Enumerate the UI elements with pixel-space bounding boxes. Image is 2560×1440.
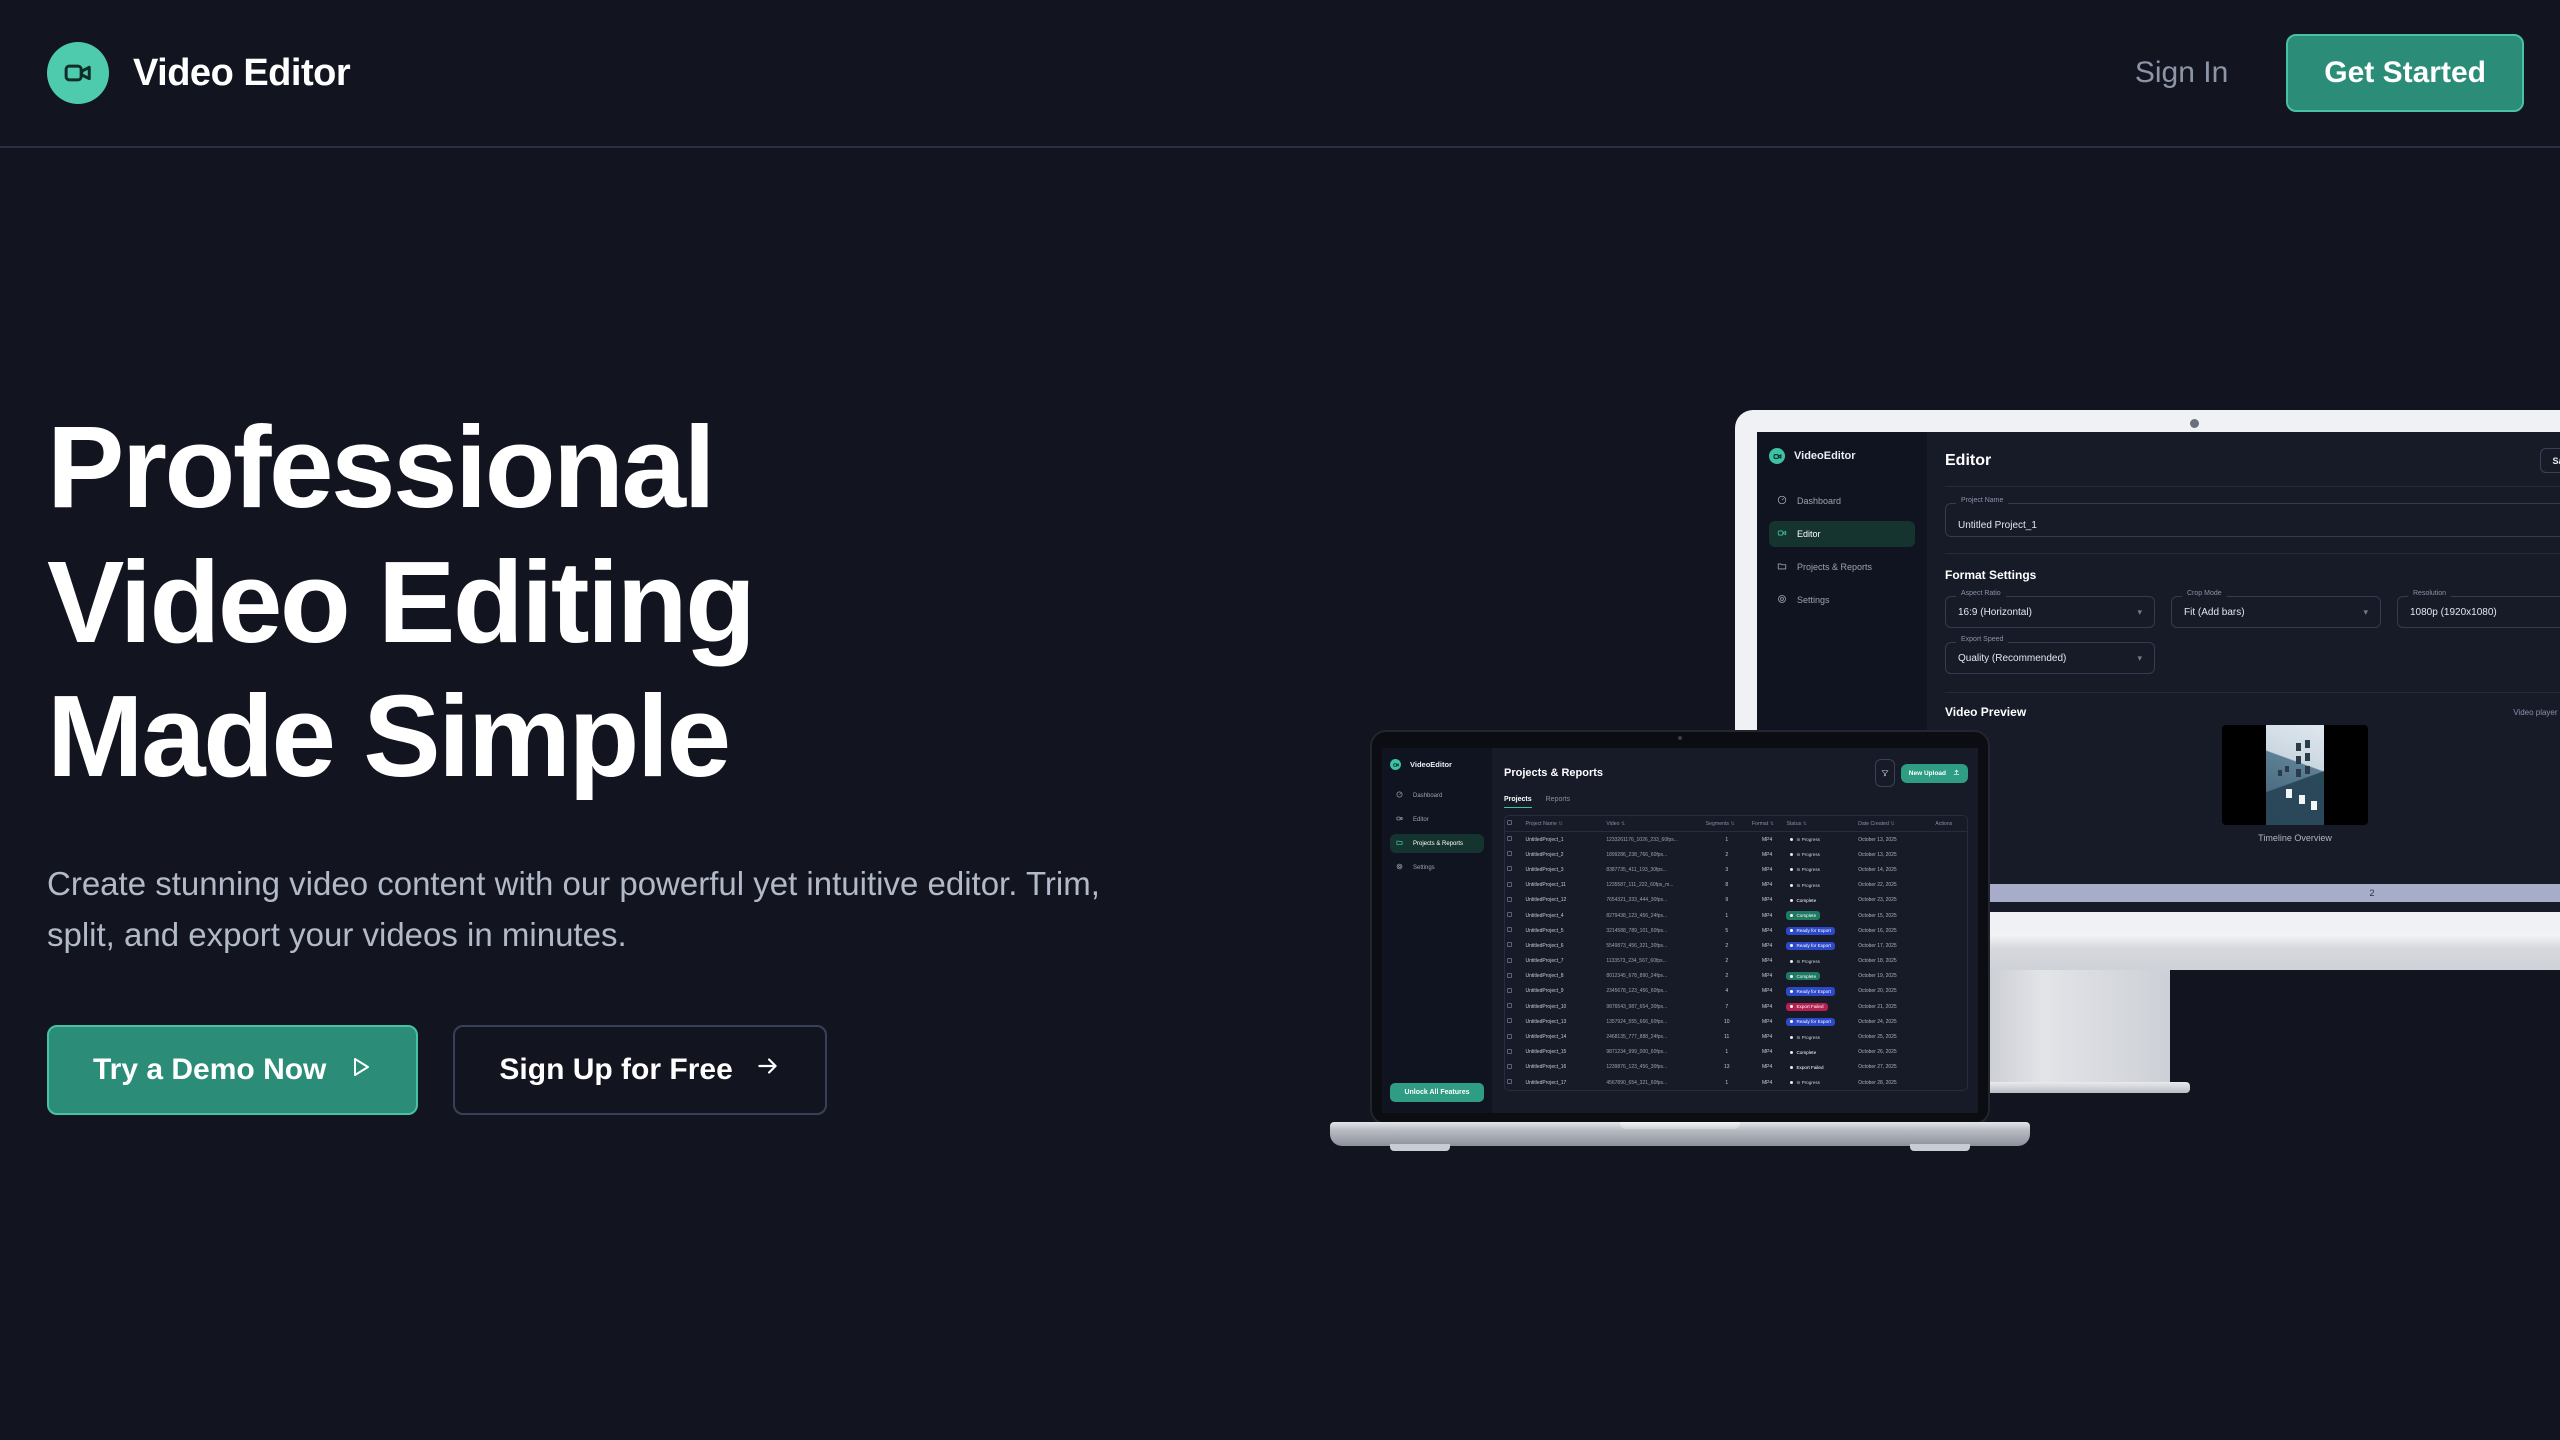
- sidebar-item-dashboard[interactable]: Dashboard: [1769, 488, 1915, 514]
- edit-icon: [1930, 987, 1937, 994]
- cell-actions[interactable]: [1921, 938, 1967, 953]
- cell-status: In Progress: [1784, 1029, 1856, 1044]
- sort-icon: ⇅: [1770, 821, 1774, 827]
- app-brand-name: VideoEditor: [1410, 760, 1452, 769]
- cell-video: 9871234_999_000_60fps...: [1604, 1045, 1703, 1060]
- row-checkbox[interactable]: [1505, 1014, 1523, 1029]
- row-checkbox[interactable]: [1505, 908, 1523, 923]
- timeline-overview-label: Timeline Overview: [2258, 833, 2332, 843]
- crop-mode-value: Fit (Add bars): [2184, 607, 2245, 618]
- column-video[interactable]: Video ⇅: [1604, 816, 1703, 832]
- projects-main: Projects & Reports New Upload: [1492, 748, 1978, 1113]
- sidebar-item-projects-reports[interactable]: Projects & Reports: [1769, 554, 1915, 580]
- cell-project-name: UntitledProject_10: [1523, 999, 1604, 1014]
- export-icon: [1940, 1078, 1947, 1085]
- export-icon: [1940, 1002, 1947, 1009]
- cell-video: 1133573_234_567_60fps...: [1604, 954, 1703, 969]
- cell-date-created: October 25, 2025: [1856, 1029, 1921, 1044]
- edit-icon: [1930, 926, 1937, 933]
- export-icon: [1940, 1063, 1947, 1070]
- status-label: In Progress: [1796, 959, 1820, 964]
- hero-title-line-1: Professional: [47, 400, 1147, 535]
- cell-project-name: UntitledProject_16: [1523, 1060, 1604, 1075]
- cell-status: Export Failed: [1784, 1060, 1856, 1075]
- edit-icon: [1930, 835, 1937, 842]
- delete-icon: [1950, 1078, 1957, 1085]
- cell-actions[interactable]: [1921, 862, 1967, 877]
- save-button[interactable]: Save: [2540, 448, 2560, 473]
- cell-video: 8387735_411_193_30fps...: [1604, 862, 1703, 877]
- webcam-dot-icon: [2190, 419, 2199, 428]
- folder-icon: [1777, 561, 1787, 573]
- status-dot: [1790, 884, 1793, 887]
- status-label: Ready for Export: [1796, 928, 1830, 933]
- cell-segments: 13: [1704, 1060, 1750, 1075]
- app-brand: VideoEditor: [1390, 759, 1484, 770]
- row-checkbox[interactable]: [1505, 878, 1523, 893]
- page-title: Professional Video Editing Made Simple: [47, 400, 1147, 804]
- status-label: In Progress: [1796, 1035, 1820, 1040]
- status-label: Ready for Export: [1796, 1019, 1830, 1024]
- cell-status: Ready for Export: [1784, 1014, 1856, 1029]
- cell-status: Complete: [1784, 908, 1856, 923]
- cell-format: MP4: [1750, 999, 1785, 1014]
- crop-mode-legend: Crop Mode: [2182, 590, 2227, 597]
- projects-table: Project Name ⇅ Video ⇅ Segments ⇅ Format…: [1504, 815, 1968, 1091]
- cell-actions[interactable]: [1921, 969, 1967, 984]
- cell-date-created: October 14, 2025: [1856, 862, 1921, 877]
- sidebar-label: Editor: [1413, 817, 1429, 823]
- edit-icon: [1930, 881, 1937, 888]
- cell-date-created: October 23, 2025: [1856, 893, 1921, 908]
- cell-project-name: UntitledProject_11: [1523, 878, 1604, 893]
- chevron-down-icon: ▾: [2137, 607, 2142, 618]
- project-name-value: Untitled Project_1: [1958, 520, 2037, 531]
- hero-section: Professional Video Editing Made Simple C…: [47, 400, 1147, 1115]
- export-icon: [1940, 911, 1947, 918]
- status-label: Complete: [1796, 913, 1816, 918]
- cell-date-created: October 17, 2025: [1856, 938, 1921, 953]
- edit-icon: [1930, 1017, 1937, 1024]
- cell-format: MP4: [1750, 1075, 1785, 1090]
- delete-icon: [1950, 865, 1957, 872]
- row-checkbox[interactable]: [1505, 969, 1523, 984]
- export-icon: [1940, 1048, 1947, 1055]
- delete-icon: [1950, 972, 1957, 979]
- cell-project-name: UntitledProject_14: [1523, 1029, 1604, 1044]
- cell-status: In Progress: [1784, 847, 1856, 862]
- product-mockup: VideoEditor Dashboard Editor: [1330, 380, 2560, 1200]
- status-badge: In Progress: [1786, 957, 1824, 965]
- cell-project-name: UntitledProject_8: [1523, 969, 1604, 984]
- cell-format: MP4: [1750, 938, 1785, 953]
- cell-actions[interactable]: [1921, 1029, 1967, 1044]
- cell-date-created: October 13, 2025: [1856, 832, 1921, 848]
- cell-format: MP4: [1750, 878, 1785, 893]
- edit-icon: [1930, 1002, 1937, 1009]
- cell-segments: 7: [1704, 999, 1750, 1014]
- cell-format: MP4: [1750, 1045, 1785, 1060]
- hero-subtitle: Create stunning video content with our p…: [47, 858, 1107, 961]
- row-checkbox[interactable]: [1505, 954, 1523, 969]
- video-preview-area: Timeline Overview: [1945, 725, 2560, 843]
- export-icon: [1940, 850, 1947, 857]
- site-header: Video Editor Sign In Get Started: [0, 0, 2560, 148]
- tab-projects[interactable]: Projects: [1504, 796, 1532, 808]
- brand-logo[interactable]: Video Editor: [47, 42, 350, 104]
- editor-page-title: Editor: [1945, 452, 1991, 470]
- row-checkbox[interactable]: [1505, 923, 1523, 938]
- table-row[interactable]: UntitledProject_92345678_123_456_60fps..…: [1505, 984, 1967, 999]
- status-dot: [1790, 960, 1793, 963]
- table-row[interactable]: UntitledProject_127654321_333_444_30fps.…: [1505, 893, 1967, 908]
- format-field-row-1: Aspect Ratio 16:9 (Horizontal) ▾ Crop Mo…: [1945, 596, 2560, 628]
- cell-video: 3214588_789_101_60fps...: [1604, 923, 1703, 938]
- status-label: Export Failed: [1796, 1004, 1823, 1009]
- gear-icon: [1396, 863, 1403, 872]
- laptop-screen: VideoEditor Dashboard Editor Projects & …: [1382, 748, 1978, 1113]
- sidebar-item-projects-reports[interactable]: Projects & Reports: [1390, 834, 1484, 853]
- row-checkbox[interactable]: [1505, 1075, 1523, 1090]
- status-badge: Ready for Export: [1786, 987, 1834, 995]
- column-project-name[interactable]: Project Name ⇅: [1523, 816, 1604, 832]
- cell-actions[interactable]: [1921, 908, 1967, 923]
- cell-segments: 9: [1704, 893, 1750, 908]
- sort-icon: ⇅: [1730, 821, 1734, 827]
- export-icon: [1940, 972, 1947, 979]
- cell-project-name: UntitledProject_4: [1523, 908, 1604, 923]
- sidebar-label: Settings: [1413, 865, 1435, 871]
- export-icon: [1940, 896, 1947, 903]
- cell-actions[interactable]: [1921, 1045, 1967, 1060]
- cell-actions[interactable]: [1921, 999, 1967, 1014]
- row-checkbox[interactable]: [1505, 847, 1523, 862]
- edit-icon: [1930, 1078, 1937, 1085]
- sidebar-item-editor[interactable]: Editor: [1769, 521, 1915, 547]
- video-camera-icon: [1396, 815, 1403, 824]
- video-camera-icon: [1390, 759, 1401, 770]
- cell-date-created: October 13, 2025: [1856, 847, 1921, 862]
- projects-page-title: Projects & Reports: [1504, 767, 1603, 779]
- table-row[interactable]: UntitledProject_71133573_234_567_60fps..…: [1505, 954, 1967, 969]
- video-preview-frame[interactable]: [2222, 725, 2368, 825]
- select-all-checkbox[interactable]: [1505, 816, 1523, 832]
- table-row[interactable]: UntitledProject_48279438_123_456_24fps..…: [1505, 908, 1967, 923]
- sort-icon: ⇅: [1558, 821, 1562, 827]
- export-icon: [1940, 987, 1947, 994]
- chevron-down-icon: ▾: [2137, 653, 2142, 664]
- status-dot: [1790, 1051, 1793, 1054]
- resolution-legend: Resolution: [2408, 590, 2451, 597]
- delete-icon: [1950, 896, 1957, 903]
- cell-video: 8012345_678_890_24fps...: [1604, 969, 1703, 984]
- cell-format: MP4: [1750, 923, 1785, 938]
- cell-video: 2345678_123_456_60fps...: [1604, 984, 1703, 999]
- new-upload-button[interactable]: New Upload: [1901, 764, 1968, 783]
- edit-icon: [1930, 1048, 1937, 1055]
- cell-segments: 8: [1704, 878, 1750, 893]
- table-row[interactable]: UntitledProject_131357924_555_666_60fps.…: [1505, 1014, 1967, 1029]
- table-row[interactable]: UntitledProject_21899286_238_766_60fps..…: [1505, 847, 1967, 862]
- row-checkbox[interactable]: [1505, 1045, 1523, 1060]
- table-row[interactable]: UntitledProject_174567890_654_321_60fps.…: [1505, 1075, 1967, 1090]
- sidebar-item-dashboard[interactable]: Dashboard: [1390, 786, 1484, 805]
- status-dot: [1790, 1020, 1793, 1023]
- cell-project-name: UntitledProject_7: [1523, 954, 1604, 969]
- cell-video: 1899286_238_766_60fps...: [1604, 847, 1703, 862]
- delete-icon: [1950, 926, 1957, 933]
- status-badge: In Progress: [1786, 836, 1824, 844]
- resolution-select[interactable]: Resolution 1080p (1920x1080) ▾: [2397, 596, 2560, 628]
- sign-up-free-button[interactable]: Sign Up for Free: [453, 1025, 826, 1115]
- cell-actions[interactable]: [1921, 1060, 1967, 1075]
- row-checkbox[interactable]: [1505, 862, 1523, 877]
- status-label: Export Failed: [1796, 1065, 1823, 1070]
- row-checkbox[interactable]: [1505, 1029, 1523, 1044]
- format-field-row-2: Export Speed Quality (Recommended) ▾: [1945, 642, 2560, 674]
- cell-project-name: UntitledProject_2: [1523, 847, 1604, 862]
- cell-actions[interactable]: [1921, 878, 1967, 893]
- cell-segments: 4: [1704, 984, 1750, 999]
- laptop-base-notch: [1620, 1122, 1740, 1129]
- delete-icon: [1950, 957, 1957, 964]
- cell-actions[interactable]: [1921, 1014, 1967, 1029]
- cell-status: In Progress: [1784, 832, 1856, 848]
- sign-in-link[interactable]: Sign In: [2135, 56, 2228, 90]
- cell-date-created: October 28, 2025: [1856, 1075, 1921, 1090]
- cell-segments: 10: [1704, 1014, 1750, 1029]
- cell-video: 2468135_777_888_24fps...: [1604, 1029, 1703, 1044]
- tab-reports[interactable]: Reports: [1546, 796, 1571, 808]
- status-dot: [1790, 868, 1793, 871]
- editor-topbar: Editor Save Export: [1945, 448, 2560, 473]
- sort-icon: ⇅: [1803, 821, 1807, 827]
- cell-status: Ready for Export: [1784, 984, 1856, 999]
- cell-project-name: UntitledProject_3: [1523, 862, 1604, 877]
- sign-up-free-label: Sign Up for Free: [499, 1053, 732, 1087]
- cell-actions[interactable]: [1921, 923, 1967, 938]
- row-checkbox[interactable]: [1505, 832, 1523, 848]
- cell-segments: 11: [1704, 1029, 1750, 1044]
- table-body: UntitledProject_11233261176_1026_233_60f…: [1505, 832, 1967, 1091]
- cell-actions[interactable]: [1921, 954, 1967, 969]
- table-row[interactable]: UntitledProject_161239876_123_456_30fps.…: [1505, 1060, 1967, 1075]
- projects-topbar: Projects & Reports New Upload: [1504, 759, 1968, 787]
- laptop-base: [1330, 1122, 2030, 1146]
- edit-icon: [1930, 1033, 1937, 1040]
- get-started-button[interactable]: Get Started: [2286, 34, 2524, 112]
- column-date-created[interactable]: Date Created ⇅: [1856, 816, 1921, 832]
- folder-icon: [1396, 839, 1403, 848]
- cell-actions[interactable]: [1921, 893, 1967, 908]
- cell-format: MP4: [1750, 1014, 1785, 1029]
- export-speed-select[interactable]: Export Speed Quality (Recommended) ▾: [1945, 642, 2155, 674]
- resolution-value: 1080p (1920x1080): [2410, 607, 2497, 618]
- header-actions: Sign In Get Started: [2135, 34, 2524, 112]
- cell-video: 1357924_555_666_60fps...: [1604, 1014, 1703, 1029]
- sort-icon: ⇅: [1621, 821, 1625, 827]
- column-status[interactable]: Status ⇅: [1784, 816, 1856, 832]
- status-dot: [1790, 838, 1793, 841]
- status-label: Complete: [1796, 898, 1816, 903]
- aspect-ratio-select[interactable]: Aspect Ratio 16:9 (Horizontal) ▾: [1945, 596, 2155, 628]
- cell-video: 9876543_987_654_30fps...: [1604, 999, 1703, 1014]
- laptop-lid: VideoEditor Dashboard Editor Projects & …: [1370, 730, 1990, 1125]
- projects-tabs: Projects Reports: [1504, 796, 1968, 808]
- cell-status: In Progress: [1784, 878, 1856, 893]
- status-dot: [1790, 914, 1793, 917]
- row-checkbox[interactable]: [1505, 1060, 1523, 1075]
- sidebar-label: Settings: [1797, 595, 1830, 605]
- cell-project-name: UntitledProject_9: [1523, 984, 1604, 999]
- aspect-ratio-value: 16:9 (Horizontal): [1958, 607, 2032, 618]
- project-name-legend: Project Name: [1956, 497, 2008, 504]
- video-camera-icon: [1769, 448, 1785, 464]
- cell-date-created: October 18, 2025: [1856, 954, 1921, 969]
- delete-icon: [1950, 911, 1957, 918]
- cell-actions[interactable]: [1921, 1075, 1967, 1090]
- delete-icon: [1950, 881, 1957, 888]
- cell-project-name: UntitledProject_1: [1523, 832, 1604, 848]
- cell-video: 1239876_123_456_30fps...: [1604, 1060, 1703, 1075]
- row-checkbox[interactable]: [1505, 999, 1523, 1014]
- sidebar-item-editor[interactable]: Editor: [1390, 810, 1484, 829]
- cell-segments: 2: [1704, 969, 1750, 984]
- sidebar-item-settings[interactable]: Settings: [1390, 858, 1484, 877]
- status-label: In Progress: [1796, 837, 1820, 842]
- cell-format: MP4: [1750, 984, 1785, 999]
- try-demo-label: Try a Demo Now: [93, 1053, 326, 1087]
- cell-actions[interactable]: [1921, 832, 1967, 848]
- cell-status: In Progress: [1784, 954, 1856, 969]
- status-badge: Export Failed: [1786, 1003, 1827, 1011]
- player-size-label: Video player size: [2513, 708, 2560, 717]
- cell-actions[interactable]: [1921, 847, 1967, 862]
- cell-project-name: UntitledProject_15: [1523, 1045, 1604, 1060]
- row-checkbox[interactable]: [1505, 984, 1523, 999]
- delete-icon: [1950, 1033, 1957, 1040]
- hero-title-line-3: Made Simple: [47, 669, 1147, 804]
- status-label: In Progress: [1796, 852, 1820, 857]
- column-actions: Actions: [1921, 816, 1967, 832]
- table-row[interactable]: UntitledProject_159871234_999_000_60fps.…: [1505, 1045, 1967, 1060]
- export-icon: [1940, 941, 1947, 948]
- row-checkbox[interactable]: [1505, 938, 1523, 953]
- gauge-icon: [1396, 791, 1403, 800]
- laptop-mockup: VideoEditor Dashboard Editor Projects & …: [1330, 730, 2030, 1160]
- edit-icon: [1930, 957, 1937, 964]
- status-dot: [1790, 899, 1793, 902]
- status-badge: In Progress: [1786, 866, 1824, 874]
- cell-segments: 3: [1704, 862, 1750, 877]
- table-row[interactable]: UntitledProject_88012345_678_890_24fps..…: [1505, 969, 1967, 984]
- status-label: Ready for Export: [1796, 943, 1830, 948]
- cell-format: MP4: [1750, 893, 1785, 908]
- preview-thumbnail: [2266, 725, 2324, 825]
- column-format[interactable]: Format ⇅: [1750, 816, 1785, 832]
- try-demo-button[interactable]: Try a Demo Now: [47, 1025, 418, 1115]
- sidebar-label: Editor: [1797, 529, 1821, 539]
- status-label: Complete: [1796, 1050, 1816, 1055]
- export-icon: [1940, 957, 1947, 964]
- webcam-dot-icon: [1678, 736, 1682, 740]
- status-label: In Progress: [1796, 883, 1820, 888]
- arrow-right-icon: [755, 1053, 781, 1087]
- delete-icon: [1950, 835, 1957, 842]
- row-checkbox[interactable]: [1505, 893, 1523, 908]
- project-name-field[interactable]: Project Name Untitled Project_1: [1945, 503, 2560, 537]
- hero-title-line-2: Video Editing: [47, 535, 1147, 670]
- status-badge: Ready for Export: [1786, 942, 1834, 950]
- cell-segments: 1: [1704, 1075, 1750, 1090]
- edit-icon: [1930, 1063, 1937, 1070]
- sidebar-item-settings[interactable]: Settings: [1769, 587, 1915, 613]
- status-dot: [1790, 929, 1793, 932]
- table-row[interactable]: UntitledProject_65549873_456_321_30fps..…: [1505, 938, 1967, 953]
- aspect-ratio-legend: Aspect Ratio: [1956, 590, 2006, 597]
- export-icon: [1940, 926, 1947, 933]
- status-label: Ready for Export: [1796, 989, 1830, 994]
- table-row[interactable]: UntitledProject_142468135_777_888_24fps.…: [1505, 1029, 1967, 1044]
- table-row[interactable]: UntitledProject_111235587_111_222_60fps_…: [1505, 878, 1967, 893]
- cell-project-name: UntitledProject_5: [1523, 923, 1604, 938]
- sort-icon: ⇅: [1890, 821, 1894, 827]
- status-dot: [1790, 1066, 1793, 1069]
- table-row[interactable]: UntitledProject_53214588_789_101_60fps..…: [1505, 923, 1967, 938]
- cell-segments: 2: [1704, 847, 1750, 862]
- cell-status: Complete: [1784, 893, 1856, 908]
- cell-date-created: October 26, 2025: [1856, 1045, 1921, 1060]
- app-brand: VideoEditor: [1769, 448, 1915, 464]
- filter-button[interactable]: [1875, 759, 1895, 787]
- cell-actions[interactable]: [1921, 984, 1967, 999]
- edit-icon: [1930, 896, 1937, 903]
- export-icon: [1940, 1017, 1947, 1024]
- cell-format: MP4: [1750, 847, 1785, 862]
- column-segments[interactable]: Segments ⇅: [1704, 816, 1750, 832]
- cell-status: In Progress: [1784, 1075, 1856, 1090]
- cell-date-created: October 16, 2025: [1856, 923, 1921, 938]
- video-camera-icon: [1777, 528, 1787, 540]
- chevron-down-icon: ▾: [2363, 607, 2368, 618]
- status-dot: [1790, 1081, 1793, 1084]
- app-brand-name: VideoEditor: [1794, 450, 1856, 462]
- new-upload-label: New Upload: [1909, 770, 1946, 777]
- crop-mode-select[interactable]: Crop Mode Fit (Add bars) ▾: [2171, 596, 2381, 628]
- cell-segments: 1: [1704, 908, 1750, 923]
- delete-icon: [1950, 1002, 1957, 1009]
- laptop-feet: [1330, 1144, 2030, 1151]
- status-badge: In Progress: [1786, 1033, 1824, 1041]
- unlock-all-features-button[interactable]: Unlock All Features: [1390, 1083, 1484, 1102]
- cell-status: Ready for Export: [1784, 938, 1856, 953]
- cell-segments: 2: [1704, 938, 1750, 953]
- table-row[interactable]: UntitledProject_11233261176_1026_233_60f…: [1505, 832, 1967, 848]
- export-speed-legend: Export Speed: [1956, 636, 2008, 643]
- cell-format: MP4: [1750, 954, 1785, 969]
- sidebar-label: Projects & Reports: [1413, 841, 1463, 847]
- status-dot: [1790, 1005, 1793, 1008]
- table-row[interactable]: UntitledProject_38387735_411_193_30fps..…: [1505, 862, 1967, 877]
- table-row[interactable]: UntitledProject_109876543_987_654_30fps.…: [1505, 999, 1967, 1014]
- save-label: Save: [2552, 456, 2560, 466]
- cell-date-created: October 19, 2025: [1856, 969, 1921, 984]
- status-badge: Complete: [1786, 896, 1820, 904]
- delete-icon: [1950, 1063, 1957, 1070]
- cell-project-name: UntitledProject_17: [1523, 1075, 1604, 1090]
- status-label: In Progress: [1796, 1080, 1820, 1085]
- hero-cta-group: Try a Demo Now Sign Up for Free: [47, 1025, 1147, 1115]
